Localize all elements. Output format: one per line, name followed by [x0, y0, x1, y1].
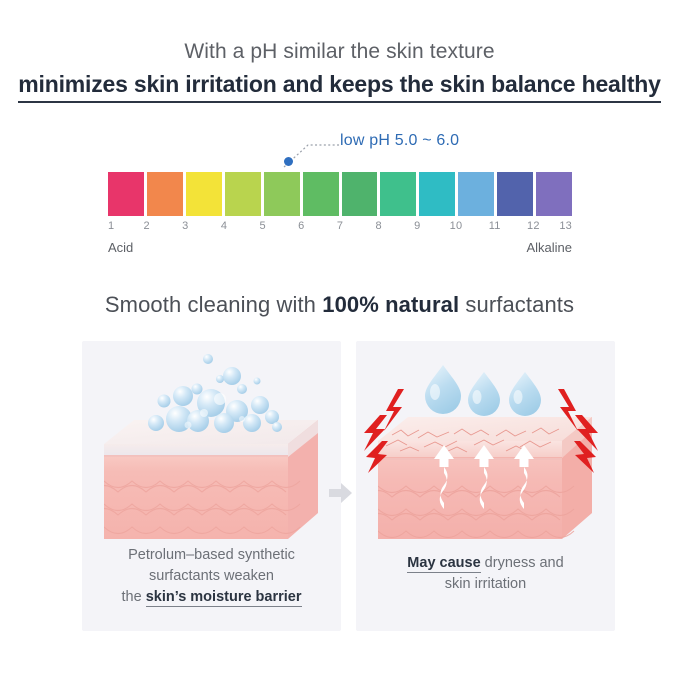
ph-callout: low pH 5.0 ~ 6.0 [108, 132, 572, 170]
ph-swatch-10 [458, 172, 494, 216]
ph-swatch-6 [303, 172, 339, 216]
arrow-right-icon [329, 482, 353, 504]
heading-emphasis: 100% natural [322, 292, 459, 317]
ph-tick-11: 11 [489, 220, 501, 232]
left-caption-emphasis: skin’s moisture barrier [146, 589, 302, 607]
section-two-heading: Smooth cleaning with 100% natural surfac… [0, 292, 679, 318]
ph-tick-3: 3 [182, 220, 188, 232]
ph-tick-9: 9 [414, 220, 420, 232]
ph-swatch-1 [108, 172, 144, 216]
left-caption-line3-prefix: the [122, 589, 146, 605]
right-panel-caption: May cause dryness and skin irritation [356, 553, 615, 595]
ph-swatch-4 [225, 172, 261, 216]
left-caption-line1: Petrolum–based synthetic [128, 547, 295, 563]
skin-cross-section-with-foam-bubbles-illustration [82, 341, 341, 551]
ph-tick-6: 6 [298, 220, 304, 232]
ph-alkaline-label: Alkaline [526, 240, 572, 255]
ph-tick-10: 10 [450, 220, 463, 232]
ph-tick-12: 12 [527, 220, 540, 232]
header-headline: minimizes skin irritation and keeps the … [18, 71, 660, 98]
ph-tick-13: 13 [559, 220, 572, 232]
ph-swatch-2 [147, 172, 183, 216]
ph-tick-8: 8 [375, 220, 381, 232]
header-headline-underline: minimizes skin irritation and keeps the … [18, 71, 660, 103]
ph-swatch-3 [186, 172, 222, 216]
ph-swatch-9 [419, 172, 455, 216]
ph-tick-1: 1 [108, 220, 114, 232]
ph-swatch-8 [380, 172, 416, 216]
water-droplets [425, 365, 541, 416]
ph-swatch-11 [497, 172, 533, 216]
ph-acid-label: Acid [108, 240, 133, 255]
synthetic-surfactant-panel: Petrolum–based synthetic surfactants wea… [82, 341, 341, 631]
right-caption-line2: skin irritation [445, 576, 526, 592]
ph-scale-section: low pH 5.0 ~ 6.0 12345678910111213 Acid … [108, 132, 572, 258]
ph-swatch-5 [264, 172, 300, 216]
ph-swatch-7 [342, 172, 378, 216]
left-caption-line2: surfactants weaken [149, 568, 274, 584]
header-subtitle: With a pH similar the skin texture [0, 38, 679, 66]
ph-callout-label: low pH 5.0 ~ 6.0 [340, 132, 459, 150]
right-caption-line1-suffix: dryness and [481, 555, 564, 571]
heading-suffix: surfactants [459, 292, 574, 317]
right-caption-emphasis: May cause [407, 555, 480, 573]
ph-marker-dot [284, 157, 293, 166]
heading-prefix: Smooth cleaning with [105, 292, 322, 317]
ph-tick-labels: 12345678910111213 [108, 220, 572, 237]
ph-swatch-12 [536, 172, 572, 216]
left-panel-caption: Petrolum–based synthetic surfactants wea… [82, 545, 341, 608]
ph-tick-4: 4 [221, 220, 227, 232]
ph-tick-2: 2 [143, 220, 149, 232]
dryness-result-panel: May cause dryness and skin irritation [356, 341, 615, 631]
ph-tick-7: 7 [337, 220, 343, 232]
ph-color-bar [108, 172, 572, 216]
header-block: With a pH similar the skin texture minim… [0, 38, 679, 103]
ph-scale-endpoints: Acid Alkaline [108, 240, 572, 258]
ph-tick-5: 5 [259, 220, 265, 232]
skin-cross-section-with-escaping-moisture-illustration [356, 341, 615, 551]
